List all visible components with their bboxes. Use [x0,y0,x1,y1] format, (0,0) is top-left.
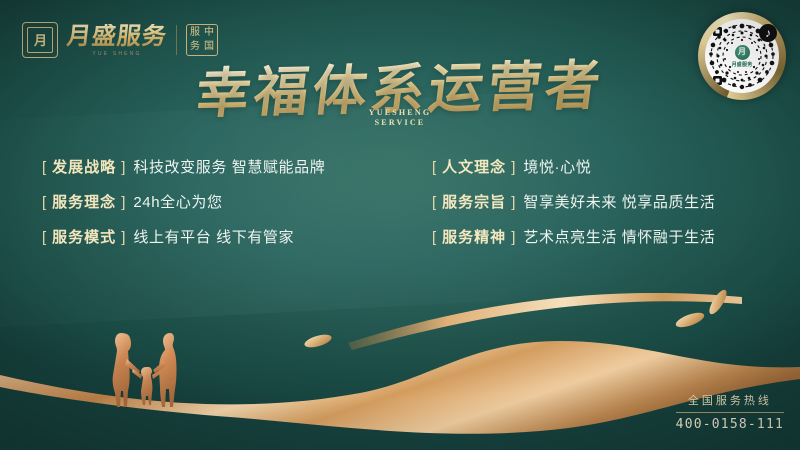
hotline-block: 全国服务热线 400-0158-111 [676,394,784,432]
hotline-number[interactable]: 400-0158-111 [676,417,784,432]
brand-lockup: 月 月盛服务 YUE SHENG 服 中 务 国 [22,22,218,58]
serve-china-badge: 服 中 务 国 [186,24,218,56]
tiktok-glyph: ♪ [765,27,771,39]
badge-char-0: 服 [190,28,200,38]
poster-canvas: 月 月盛服务 YUE SHENG 服 中 务 国 [0,0,800,450]
statement-key: 服务模式 [47,230,121,245]
brand-name-cn: 月盛服务 [66,24,169,48]
bracket-close: ] [511,230,515,245]
statement-item-2: [ 服务理念 ] 24h全心为您 [42,195,432,210]
seal-emblem-icon: 月 [22,22,58,58]
hotline-label: 全国服务热线 [676,394,784,413]
brand-divider [176,25,177,55]
statement-value: 境悦·心悦 [523,160,591,175]
statement-item-3: [ 服务宗旨 ] 智享美好未来 悦享品质生活 [432,195,776,210]
brand-name-pinyin: YUE SHENG [67,51,167,57]
bracket-open: [ [432,160,436,175]
bracket-open: [ [42,230,46,245]
badge-char-2: 务 [190,42,200,52]
bracket-open: [ [42,160,46,175]
statement-grid: [ 发展战略 ] 科技改变服务 智慧赋能品牌 [ 人文理念 ] 境悦·心悦 [ … [42,160,776,245]
statement-key: 服务理念 [47,195,121,210]
statement-value: 线上有平台 线下有管家 [133,230,294,245]
title-block: 幸福体系运营者 YUESHENG SERVICE [0,62,800,116]
bracket-open: [ [432,230,436,245]
statement-key: 人文理念 [437,160,511,175]
bracket-close: ] [121,160,125,175]
bracket-open: [ [42,195,46,210]
statement-value: 艺术点亮生活 情怀融于生活 [523,230,715,245]
leaf-icon-mid [674,310,706,330]
bracket-close: ] [121,195,125,210]
statement-item-4: [ 服务模式 ] 线上有平台 线下有管家 [42,230,432,245]
statement-value: 24h全心为您 [133,195,222,210]
statement-key: 发展战略 [47,160,121,175]
seal-glyph: 月 [34,34,46,47]
bracket-close: ] [511,195,515,210]
bracket-close: ] [511,160,515,175]
statement-item-1: [ 人文理念 ] 境悦·心悦 [432,160,776,175]
qr-center-mark: 月 [735,45,750,60]
statement-item-5: [ 服务精神 ] 艺术点亮生活 情怀融于生活 [432,230,776,245]
statement-value: 智享美好未来 悦享品质生活 [523,195,715,210]
bracket-close: ] [121,230,125,245]
statement-item-0: [ 发展战略 ] 科技改变服务 智慧赋能品牌 [42,160,432,175]
statement-value: 科技改变服务 智慧赋能品牌 [133,160,325,175]
badge-char-1: 中 [204,28,214,38]
tiktok-icon[interactable]: ♪ [759,24,777,42]
family-silhouette [113,333,177,407]
page-title: 幸福体系运营者 [187,58,613,121]
statement-key: 服务精神 [437,230,511,245]
badge-char-3: 国 [204,42,214,52]
statement-key: 服务宗旨 [437,195,511,210]
brand-name-block: 月盛服务 YUE SHENG [67,24,167,57]
bracket-open: [ [432,195,436,210]
leaf-icon-left [303,332,333,350]
